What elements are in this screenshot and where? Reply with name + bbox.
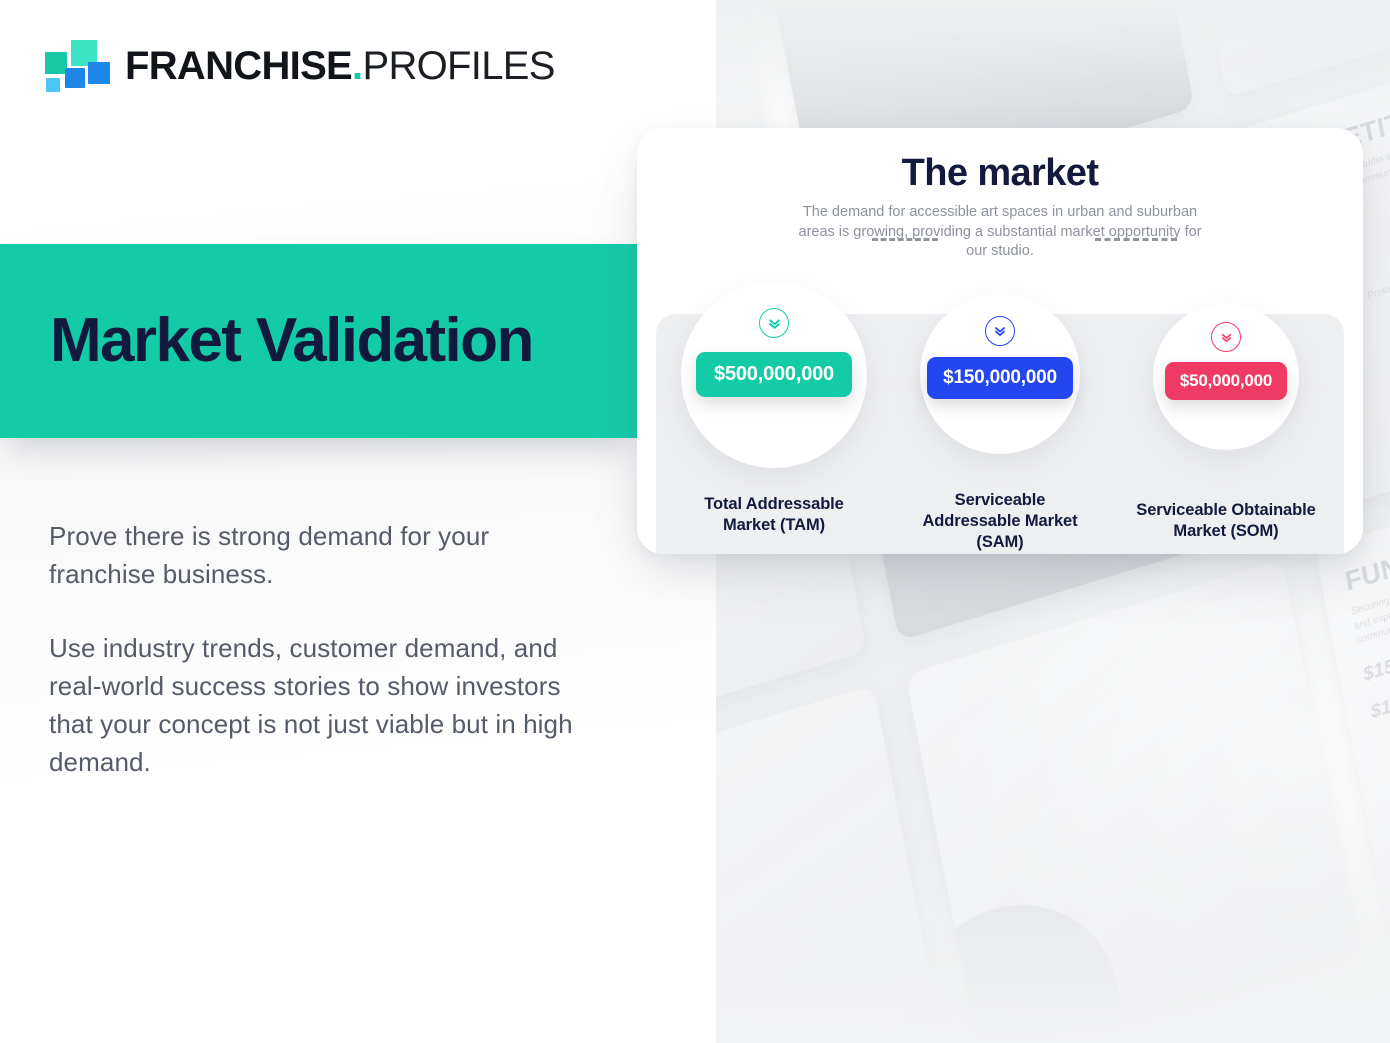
market-stage-tam[interactable]: $500,000,000 Total Addressable Market (T… bbox=[674, 282, 874, 536]
description-paragraph-1: Prove there is strong demand for your fr… bbox=[49, 518, 594, 594]
page-title: Market Validation bbox=[50, 310, 533, 372]
market-stages: $500,000,000 Total Addressable Market (T… bbox=[656, 314, 1344, 554]
stage-connector-tam-sam bbox=[872, 238, 938, 241]
brand-wordmark: FRANCHISE.PROFILES bbox=[125, 46, 555, 86]
left-panel: FRANCHISE.PROFILES Market Validation Pro… bbox=[0, 0, 716, 1043]
double-chevron-down-icon bbox=[1211, 322, 1241, 352]
double-chevron-down-icon bbox=[759, 308, 789, 338]
stage-amount-badge: $150,000,000 bbox=[927, 357, 1073, 399]
background-metric-value: $150,000 bbox=[1362, 641, 1390, 686]
description-paragraph-2: Use industry trends, customer demand, an… bbox=[49, 630, 594, 782]
logo-squares-icon bbox=[45, 40, 107, 92]
brand-name-light: PROFILES bbox=[362, 44, 554, 88]
brand-separator: . bbox=[352, 44, 362, 88]
market-card-title: The market bbox=[637, 152, 1363, 195]
stage-amount-badge: $500,000,000 bbox=[696, 352, 852, 397]
stage-label: Serviceable Addressable Market (SAM) bbox=[905, 490, 1095, 552]
stage-bubble: $500,000,000 bbox=[681, 282, 867, 468]
page-title-banner: Market Validation bbox=[0, 244, 637, 438]
market-card-subtitle: The demand for accessible art spaces in … bbox=[790, 203, 1210, 262]
stage-bubble: $150,000,000 bbox=[920, 294, 1080, 454]
background-fade-bottom bbox=[716, 873, 1390, 1043]
market-card: The market The demand for accessible art… bbox=[637, 128, 1363, 554]
brand-logo: FRANCHISE.PROFILES bbox=[45, 40, 555, 92]
stage-label: Total Addressable Market (TAM) bbox=[679, 494, 869, 536]
background-metric-value: $150,000 bbox=[1369, 679, 1390, 724]
brand-name-bold: FRANCHISE bbox=[125, 44, 352, 88]
slide-canvas: Drop-In Fees Session Workshops Commissio… bbox=[0, 0, 1390, 1043]
market-stage-som[interactable]: $50,000,000 Serviceable Obtainable Marke… bbox=[1126, 304, 1326, 542]
stage-amount-badge: $50,000,000 bbox=[1165, 362, 1287, 400]
stage-bubble: $50,000,000 bbox=[1153, 304, 1299, 450]
stage-connector-sam-som bbox=[1095, 238, 1177, 241]
double-chevron-down-icon bbox=[985, 316, 1015, 346]
stage-label: Serviceable Obtainable Market (SOM) bbox=[1131, 500, 1321, 542]
background-fade-top bbox=[716, 0, 1390, 120]
market-stage-sam[interactable]: $150,000,000 Serviceable Addressable Mar… bbox=[900, 294, 1100, 552]
description-block: Prove there is strong demand for your fr… bbox=[49, 518, 594, 782]
